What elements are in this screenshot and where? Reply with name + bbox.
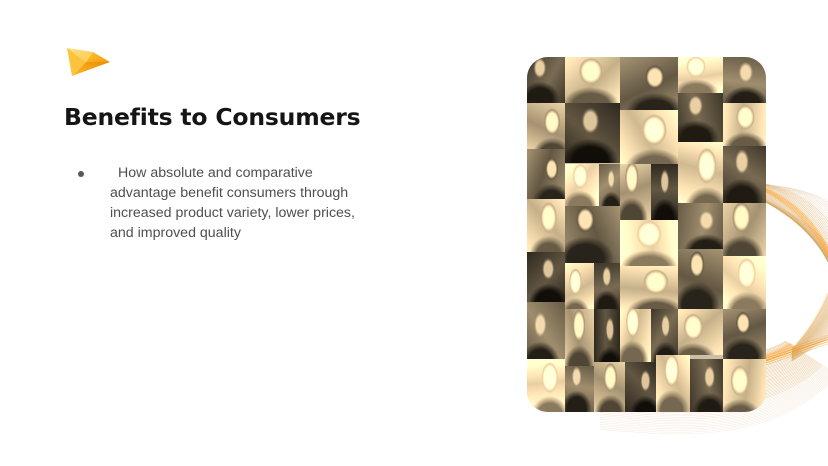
portrait-photo [651, 164, 677, 221]
collage-photo-tile [678, 249, 723, 309]
portrait-photo [565, 57, 620, 103]
collage-photo-tile [620, 220, 677, 266]
portrait-photo [678, 309, 723, 355]
collage-photo-tile [678, 309, 723, 355]
collage-photo-tile [594, 263, 620, 309]
swirl-line [792, 300, 828, 360]
collage-photo-tile [620, 164, 651, 221]
swirl-line [792, 280, 828, 358]
swirl-line [792, 297, 828, 360]
portrait-photo [527, 252, 565, 302]
portrait-photo [723, 359, 766, 412]
portrait-photo [565, 206, 620, 263]
portrait-photo [723, 146, 766, 203]
swirl-line [792, 303, 828, 360]
bullet-text: How absolute and comparative advantage b… [110, 163, 372, 243]
swirl-line [792, 273, 828, 358]
collage-photo-tile [527, 199, 565, 252]
swirl-line [775, 186, 828, 399]
portrait-photo [723, 103, 766, 146]
portrait-photo [565, 103, 620, 163]
portrait-photo [620, 266, 677, 309]
swirl-line [792, 290, 828, 359]
collage-photo-tile [565, 309, 594, 366]
portrait-photo [599, 164, 621, 207]
swirl-line [792, 240, 828, 355]
collage-grid [527, 57, 766, 412]
portrait-photo [620, 164, 651, 221]
collage-photo-tile [620, 57, 677, 110]
collage-photo-tile [620, 266, 677, 309]
body-bullet-list: How absolute and comparative advantage b… [72, 163, 372, 243]
swirl-line [792, 276, 828, 358]
bullet-dot-icon [78, 171, 84, 177]
swirl-line [781, 187, 828, 404]
play-triangle-logo [63, 43, 115, 81]
collage-photo-tile [620, 309, 651, 362]
portrait-photo [594, 309, 620, 366]
swirl-line [792, 225, 828, 353]
collage-photo-tile [565, 206, 620, 263]
collage-photo-tile [594, 362, 625, 412]
portrait-photo [656, 355, 689, 412]
swirl-line [765, 184, 828, 392]
swirl-line [792, 168, 828, 349]
portrait-photo [678, 203, 723, 249]
portrait-photo [723, 309, 766, 359]
portrait-photo [620, 57, 677, 110]
swirl-line [792, 187, 828, 350]
portrait-photo [678, 142, 723, 202]
collage-photo-tile [651, 164, 677, 221]
portrait-photo [565, 309, 594, 366]
collage-photo-tile [723, 309, 766, 359]
portrait-photo [723, 203, 766, 256]
swirl-line [792, 266, 828, 357]
swirl-line [792, 287, 828, 359]
collage-photo-tile [527, 359, 565, 412]
swirl-line [792, 195, 828, 351]
swirl-line [792, 206, 828, 352]
collage-photo-tile [565, 263, 594, 309]
collage-photo-tile [527, 302, 565, 359]
swirl-line [771, 185, 828, 396]
list-item: How absolute and comparative advantage b… [72, 163, 372, 243]
collage-photo-tile [527, 252, 565, 302]
collage-photo-tile [723, 359, 766, 412]
collage-photo-tile [527, 149, 565, 199]
portrait-photo [723, 57, 766, 103]
collage-photo-tile [527, 57, 565, 103]
swirl-line [792, 218, 828, 353]
swirl-line [792, 293, 828, 359]
swirl-line [792, 255, 828, 356]
portrait-photo [565, 366, 594, 412]
swirl-line [792, 247, 828, 355]
collage-photo-tile [620, 110, 677, 163]
collage-photo-tile [678, 57, 723, 93]
portrait-photo [594, 263, 620, 309]
collage-photo-tile [723, 103, 766, 146]
people-photo-collage [527, 57, 766, 412]
swirl-line [758, 183, 828, 387]
swirl-line [792, 262, 828, 357]
portrait-photo [527, 103, 565, 149]
swirl-line [792, 269, 828, 357]
portrait-photo [527, 359, 565, 412]
swirl-line [792, 210, 828, 352]
collage-photo-tile [690, 359, 723, 412]
portrait-photo [527, 302, 565, 359]
collage-photo-tile [565, 103, 620, 163]
swirl-line [792, 180, 828, 350]
portrait-photo [620, 309, 651, 362]
collage-photo-tile [594, 309, 620, 366]
portrait-photo [527, 57, 565, 103]
portrait-photo [565, 164, 598, 207]
portrait-photo [678, 57, 723, 93]
collage-photo-tile [527, 103, 565, 149]
portrait-photo [625, 362, 656, 412]
swirl-line [792, 172, 828, 349]
swirl-line [785, 187, 828, 406]
swirl-line [792, 251, 828, 356]
collage-photo-tile [723, 57, 766, 103]
collage-photo-tile [625, 362, 656, 412]
swirl-line [792, 244, 828, 355]
swirl-line [792, 229, 828, 354]
swirl-line [792, 236, 828, 354]
swirl-line [768, 185, 828, 395]
swirl-line [792, 306, 828, 360]
portrait-photo [527, 149, 565, 199]
swirl-line [778, 186, 828, 401]
portrait-photo [620, 220, 677, 266]
portrait-photo [620, 110, 677, 163]
swirl-line [792, 199, 828, 352]
collage-photo-tile [565, 366, 594, 412]
swirl-line [792, 214, 828, 353]
portrait-photo [678, 249, 723, 309]
portrait-photo [594, 362, 625, 412]
swirl-line [792, 258, 828, 356]
portrait-photo [565, 263, 594, 309]
collage-photo-tile [723, 203, 766, 256]
portrait-photo [723, 256, 766, 309]
collage-photo-tile [599, 164, 621, 207]
swirl-line [761, 183, 828, 389]
collage-photo-tile [678, 142, 723, 202]
collage-photo-tile [723, 256, 766, 309]
portrait-photo [678, 93, 723, 143]
swirl-line [792, 309, 828, 361]
page-title: Benefits to Consumers [64, 103, 360, 131]
collage-photo-tile [678, 93, 723, 143]
swirl-line [792, 176, 828, 350]
collage-photo-tile [565, 57, 620, 103]
swirl-line [792, 202, 828, 351]
swirl-line [792, 283, 828, 358]
collage-photo-tile [565, 164, 598, 207]
collage-photo-tile [678, 203, 723, 249]
collage-photo-tile [656, 355, 689, 412]
swirl-line [788, 188, 828, 409]
swirl-line [792, 221, 828, 353]
swirl-line [792, 183, 828, 350]
swirl-line [792, 191, 828, 351]
portrait-photo [527, 199, 565, 252]
slide-canvas: Benefits to Consumers How absolute and c… [0, 0, 828, 466]
collage-photo-tile [723, 146, 766, 203]
portrait-photo [690, 359, 723, 412]
swirl-line [792, 233, 828, 355]
